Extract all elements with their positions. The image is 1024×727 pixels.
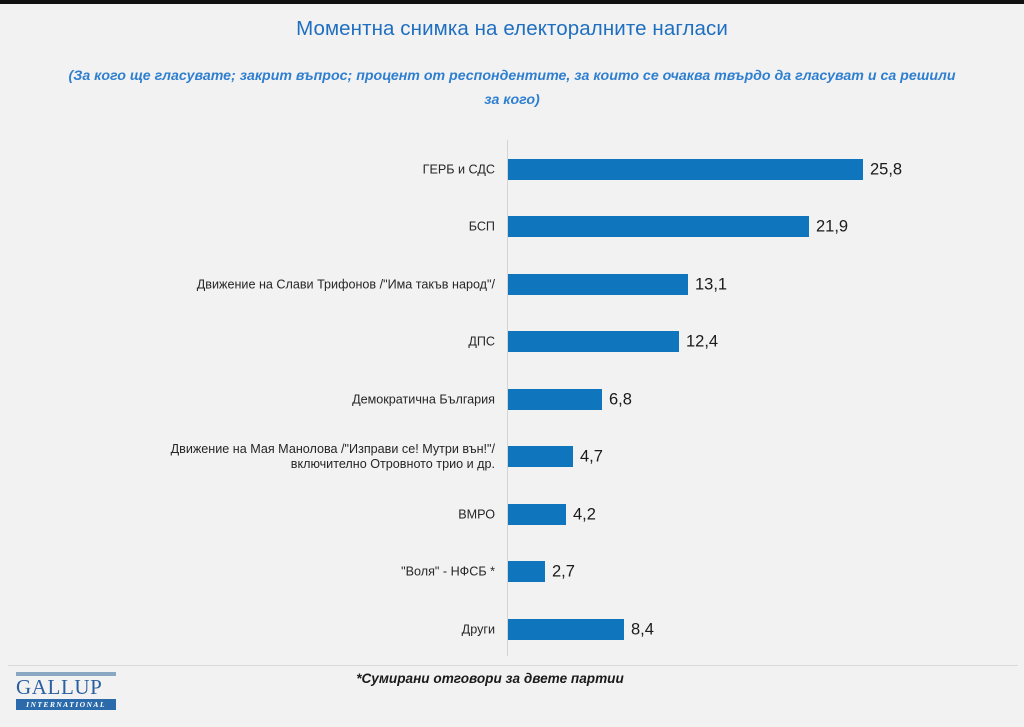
- bar-value-label: 4,2: [573, 505, 596, 524]
- bar-segment[interactable]: [508, 274, 688, 295]
- bar-value-label: 4,7: [580, 447, 603, 466]
- bar-category-label: ДПС: [125, 334, 495, 349]
- footnote-text: *Сумирани отговори за двете партии: [140, 671, 840, 686]
- bar-value-label: 25,8: [870, 160, 902, 179]
- bar-value-label: 2,7: [552, 562, 575, 581]
- logo-subtitle-text: INTERNATIONAL: [26, 699, 106, 710]
- bar-segment[interactable]: [508, 389, 602, 410]
- bar-segment[interactable]: [508, 216, 809, 237]
- bar-value-label: 12,4: [686, 332, 718, 351]
- bar-segment[interactable]: [508, 504, 566, 525]
- bar-segment[interactable]: [508, 561, 545, 582]
- bar-category-label: ВМРО: [125, 507, 495, 522]
- table-row: Други 8,4: [0, 619, 1024, 640]
- slide-canvas: Моментна снимка на електоралните нагласи…: [0, 4, 1024, 727]
- gallup-logo: GALLUP INTERNATIONAL: [16, 672, 116, 710]
- bar-value-label: 21,9: [816, 217, 848, 236]
- bar-segment[interactable]: [508, 446, 573, 467]
- footer-divider: [8, 665, 1018, 666]
- bar-category-label: "Воля" - НФСБ *: [125, 564, 495, 579]
- logo-subtitle-bar: INTERNATIONAL: [16, 699, 116, 710]
- logo-wordmark: GALLUP: [16, 677, 116, 698]
- table-row: Движение на Мая Манолова /"Изправи се! М…: [0, 446, 1024, 467]
- bar-value-label: 8,4: [631, 620, 654, 639]
- bar-segment[interactable]: [508, 159, 863, 180]
- bar-segment[interactable]: [508, 331, 679, 352]
- table-row: ГЕРБ и СДС 25,8: [0, 159, 1024, 180]
- table-row: ДПС 12,4: [0, 331, 1024, 352]
- table-row: ВМРО 4,2: [0, 504, 1024, 525]
- bar-category-label: БСП: [125, 219, 495, 234]
- bar-segment[interactable]: [508, 619, 624, 640]
- bar-value-label: 13,1: [695, 275, 727, 294]
- page-title: Моментна снимка на електоралните нагласи: [0, 17, 1024, 41]
- bar-category-label: Демократична България: [125, 392, 495, 407]
- bar-category-label: Други: [125, 622, 495, 637]
- table-row: Демократична България 6,8: [0, 389, 1024, 410]
- bar-category-label: ГЕРБ и СДС: [125, 162, 495, 177]
- bar-category-label: Движение на Слави Трифонов /"Има такъв н…: [125, 277, 495, 292]
- chart-plot-area: ГЕРБ и СДС 25,8 БСП 21,9 Движение на Сла…: [0, 140, 1024, 656]
- table-row: "Воля" - НФСБ * 2,7: [0, 561, 1024, 582]
- table-row: БСП 21,9: [0, 216, 1024, 237]
- bar-category-label: Движение на Мая Манолова /"Изправи се! М…: [125, 442, 495, 472]
- chart-subtitle: (За кого ще гласувате; закрит въпрос; пр…: [62, 64, 962, 112]
- bar-value-label: 6,8: [609, 390, 632, 409]
- table-row: Движение на Слави Трифонов /"Има такъв н…: [0, 274, 1024, 295]
